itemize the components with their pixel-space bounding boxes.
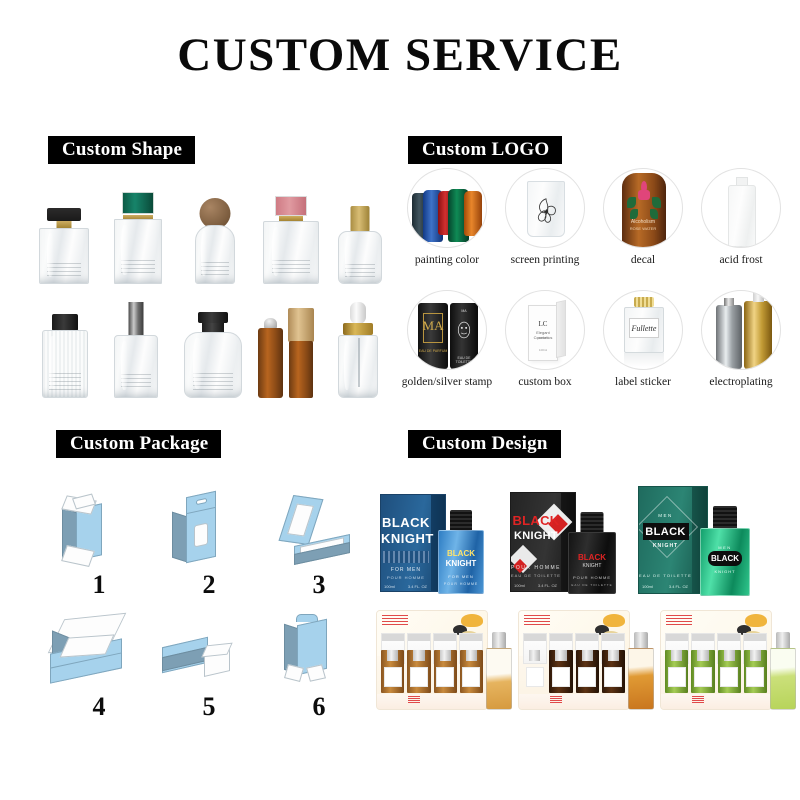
display-reflection bbox=[519, 709, 629, 710]
display-bottle bbox=[576, 650, 599, 693]
box-line-1: BLACK bbox=[511, 513, 561, 528]
package-number: 3 bbox=[264, 570, 374, 600]
package-number: 1 bbox=[44, 570, 154, 600]
infographic-page: CUSTOM SERVICE Custom Shape Custom LOGO … bbox=[0, 0, 800, 800]
glass-body bbox=[42, 330, 88, 398]
colored-bottles-icon bbox=[407, 168, 487, 248]
package-number: 4 bbox=[44, 692, 154, 722]
cap-silver-tall bbox=[129, 302, 144, 336]
bottle-label bbox=[201, 262, 228, 277]
cap-black bbox=[52, 314, 78, 331]
bottle-body: BLACK KNIGHT FOR MEN POUR HOMME bbox=[438, 530, 484, 594]
bottle-label bbox=[121, 374, 151, 390]
box-ounces: 3.4 FL. OZ bbox=[538, 583, 557, 588]
shape-row-2 bbox=[30, 286, 380, 400]
shape-row-1 bbox=[30, 172, 380, 286]
bottle-amber-rollers bbox=[258, 306, 320, 398]
logo-item-golden-silver-stamp: MA EAU DE PARFUM MA EAU DE TOILETTE gold… bbox=[398, 290, 496, 407]
logo-item-label-sticker: Fullette label sticker bbox=[594, 290, 692, 407]
black-stamped-bottles-icon: MA EAU DE PARFUM MA EAU DE TOILETTE bbox=[407, 290, 487, 370]
logo-item-caption: electroplating bbox=[684, 376, 798, 388]
logo-item-caption: golden/silver stamp bbox=[390, 376, 504, 388]
box-ounces: 3.4 FL. OZ bbox=[408, 584, 427, 589]
box-ounces: 3.4 FL. OZ bbox=[669, 584, 688, 589]
display-bottle bbox=[665, 650, 688, 693]
logo-item-custom-box: LC Elegant Cosmetics parfum 100ml custom… bbox=[496, 290, 594, 407]
perfume-bottle: MEN BLACK KNIGHT bbox=[700, 506, 750, 596]
display-bottle bbox=[434, 650, 457, 693]
bottle-soft-square-gold-cap bbox=[338, 206, 382, 284]
logo-item-caption: label sticker bbox=[586, 376, 700, 388]
display-bottle bbox=[602, 650, 625, 693]
display-card bbox=[660, 610, 772, 710]
package-item-4: 4 bbox=[44, 610, 154, 726]
section-banner-custom-package: Custom Package bbox=[56, 430, 221, 458]
large-bottle-body bbox=[628, 648, 654, 710]
display-bottle-row bbox=[381, 650, 482, 693]
bottle-square-black-cap bbox=[38, 208, 90, 284]
logo-item-painting-color: painting color bbox=[398, 168, 496, 285]
bottle-dropper-gold-collar bbox=[336, 302, 380, 398]
bottle-cap bbox=[450, 510, 472, 532]
display-reflection bbox=[661, 709, 771, 710]
roller-body bbox=[289, 341, 313, 398]
box-line-2: KNIGHT bbox=[381, 531, 431, 546]
dropper-bulb bbox=[350, 302, 366, 324]
custom-logo-gallery: painting color screen printing bbox=[398, 168, 790, 402]
printed-glass-icon bbox=[505, 168, 585, 248]
box-volume: 100ml bbox=[384, 584, 395, 589]
glass-body bbox=[195, 225, 235, 284]
amber-decal-bottle-icon: Alcoholism ROSE WATER bbox=[603, 168, 683, 248]
package-number: 5 bbox=[154, 692, 264, 722]
package-item-1: 1 bbox=[44, 488, 154, 604]
glass-body bbox=[263, 221, 319, 284]
bottle-label bbox=[49, 373, 81, 390]
box-volume: 100ml bbox=[642, 584, 653, 589]
display-large-bottle bbox=[486, 632, 512, 710]
display-large-bottle bbox=[628, 632, 654, 710]
display-bottle bbox=[744, 650, 767, 693]
box-line-4: POUR HOMME bbox=[381, 575, 431, 580]
white-box-icon: LC Elegant Cosmetics parfum 100ml bbox=[505, 290, 585, 370]
perfume-set-black-knight-black-red: BLACK KNIGHT POUR HOMME EAU DE TOILETTE … bbox=[510, 488, 640, 598]
hang-hole-window-box-art bbox=[154, 488, 264, 574]
perfume-box: BLACK KNIGHT POUR HOMME EAU DE TOILETTE … bbox=[510, 492, 576, 592]
display-bottle-row bbox=[523, 650, 624, 693]
cap-green bbox=[122, 192, 154, 214]
custom-package-gallery: 1 2 3 bbox=[44, 488, 374, 720]
glass-body bbox=[114, 219, 162, 284]
custom-shape-gallery bbox=[30, 172, 380, 400]
large-bottle-body bbox=[770, 648, 796, 710]
bottle-label bbox=[345, 264, 375, 277]
box-line-4: EAU DE TOILETTE bbox=[511, 573, 561, 578]
package-item-3: 3 bbox=[264, 488, 374, 604]
display-bottle bbox=[718, 650, 741, 693]
bottle-ribbed-black-cap bbox=[42, 314, 88, 398]
bottle-body: BLACK KNIGHT POUR HOMME EAU DE TOILETTE bbox=[568, 532, 616, 594]
roller-open bbox=[258, 318, 283, 398]
bottle-round-wood-ball-cap bbox=[190, 198, 240, 284]
handle-gable-box-art bbox=[264, 610, 374, 696]
bottle-label bbox=[47, 263, 82, 277]
display-large-bottle bbox=[770, 632, 796, 710]
glass-body bbox=[338, 335, 378, 398]
display-bottle bbox=[381, 650, 404, 693]
display-bottle bbox=[460, 650, 483, 693]
bottle-label bbox=[193, 373, 233, 390]
box-line-3: POUR HOMME bbox=[511, 565, 561, 571]
custom-design-gallery: BLACK KNIGHT FOR MEN POUR HOMME 100ml 3.… bbox=[376, 474, 796, 754]
box-line-2: BLACK bbox=[639, 526, 692, 538]
display-bottle-row bbox=[665, 650, 766, 693]
bottle-tall-green-cap bbox=[112, 192, 164, 284]
perfume-bottle: BLACK KNIGHT FOR MEN POUR HOMME bbox=[438, 510, 484, 594]
bottle-cap bbox=[713, 506, 737, 530]
package-number: 6 bbox=[264, 692, 374, 722]
display-card bbox=[376, 610, 488, 710]
roller-body bbox=[258, 328, 283, 398]
hinged-window-lid-box-art bbox=[264, 488, 374, 574]
bottle-body: MEN BLACK KNIGHT bbox=[700, 528, 750, 596]
large-bottle-body bbox=[486, 648, 512, 710]
cap-black bbox=[47, 208, 81, 221]
logo-item-caption: acid frost bbox=[684, 254, 798, 266]
metallic-bottles-icon bbox=[701, 290, 781, 370]
retail-display-dark-amber bbox=[518, 610, 656, 714]
cap-bamboo bbox=[288, 308, 314, 342]
logo-item-caption: painting color bbox=[390, 254, 504, 266]
cap-gold bbox=[351, 206, 370, 232]
pipette bbox=[358, 338, 360, 387]
display-base bbox=[377, 694, 487, 709]
logo-item-acid-frost: acid frost bbox=[692, 168, 790, 285]
large-bottle-cap bbox=[634, 632, 649, 649]
perfume-set-black-knight-blue: BLACK KNIGHT FOR MEN POUR HOMME 100ml 3.… bbox=[380, 488, 510, 598]
roller-capped bbox=[288, 308, 314, 398]
display-bottle bbox=[691, 650, 714, 693]
section-banner-custom-shape: Custom Shape bbox=[48, 136, 195, 164]
frosted-bottle-icon bbox=[701, 168, 781, 248]
logo-item-caption: screen printing bbox=[488, 254, 602, 266]
package-item-2: 2 bbox=[154, 488, 264, 604]
page-title: CUSTOM SERVICE bbox=[0, 32, 800, 79]
logo-item-decal: Alcoholism ROSE WATER decal bbox=[594, 168, 692, 285]
box-line-3: KNIGHT bbox=[639, 543, 692, 549]
package-item-5: 5 bbox=[154, 610, 264, 726]
cap-pink bbox=[275, 196, 307, 216]
box-line-4: EAU DE TOILETTE bbox=[639, 573, 692, 578]
retail-display-green bbox=[660, 610, 798, 714]
glass-body bbox=[39, 228, 89, 284]
bottle-flat-silver-sprayer bbox=[112, 302, 160, 398]
collar-gold bbox=[343, 323, 373, 335]
section-banner-custom-design: Custom Design bbox=[408, 430, 561, 458]
perfume-set-men-black-knight-green: MEN BLACK KNIGHT EAU DE TOILETTE 100ml 3… bbox=[638, 482, 778, 600]
glass-body bbox=[184, 332, 242, 398]
display-bottle bbox=[523, 650, 546, 693]
display-bottle bbox=[407, 650, 430, 693]
bottle-rect-pink-cap bbox=[262, 196, 320, 284]
display-base bbox=[519, 694, 629, 709]
box-line-3: FOR MEN bbox=[381, 567, 431, 573]
bottle-faceted-black-cap bbox=[182, 312, 244, 398]
logo-item-caption: custom box bbox=[488, 376, 602, 388]
labeled-flacon-icon: Fullette bbox=[603, 290, 683, 370]
tuck-end-carton-art bbox=[44, 488, 154, 574]
large-bottle-cap bbox=[776, 632, 791, 649]
bottle-cap bbox=[581, 512, 604, 534]
glass-body bbox=[338, 231, 382, 284]
glass-body bbox=[114, 335, 158, 398]
sleeve-drawer-box-art bbox=[154, 610, 264, 696]
package-number: 2 bbox=[154, 570, 264, 600]
box-volume: 100ml bbox=[514, 583, 525, 588]
logo-item-screen-printing: screen printing bbox=[496, 168, 594, 285]
box-line-1: BLACK bbox=[381, 515, 431, 530]
perfume-box: BLACK KNIGHT FOR MEN POUR HOMME 100ml 3.… bbox=[380, 494, 446, 592]
logo-item-caption: decal bbox=[586, 254, 700, 266]
perfume-box: MEN BLACK KNIGHT EAU DE TOILETTE 100ml 3… bbox=[638, 486, 708, 594]
mailer-box-art bbox=[44, 610, 154, 696]
retail-display-amber bbox=[376, 610, 514, 714]
display-base bbox=[661, 694, 771, 709]
bottle-label bbox=[272, 260, 311, 276]
perfume-bottle: BLACK KNIGHT POUR HOMME EAU DE TOILETTE bbox=[568, 512, 616, 594]
section-banner-custom-logo: Custom LOGO bbox=[408, 136, 562, 164]
display-bottle bbox=[549, 650, 572, 693]
package-item-6: 6 bbox=[264, 610, 374, 726]
display-card bbox=[518, 610, 630, 710]
bottle-label bbox=[121, 260, 154, 276]
cap-black-faceted bbox=[198, 312, 228, 323]
display-reflection bbox=[377, 709, 487, 710]
large-bottle-cap bbox=[492, 632, 507, 649]
box-line-1: MEN bbox=[639, 513, 692, 518]
logo-item-electroplating: electroplating bbox=[692, 290, 790, 407]
box-line-2: KNIGHT bbox=[511, 530, 561, 542]
